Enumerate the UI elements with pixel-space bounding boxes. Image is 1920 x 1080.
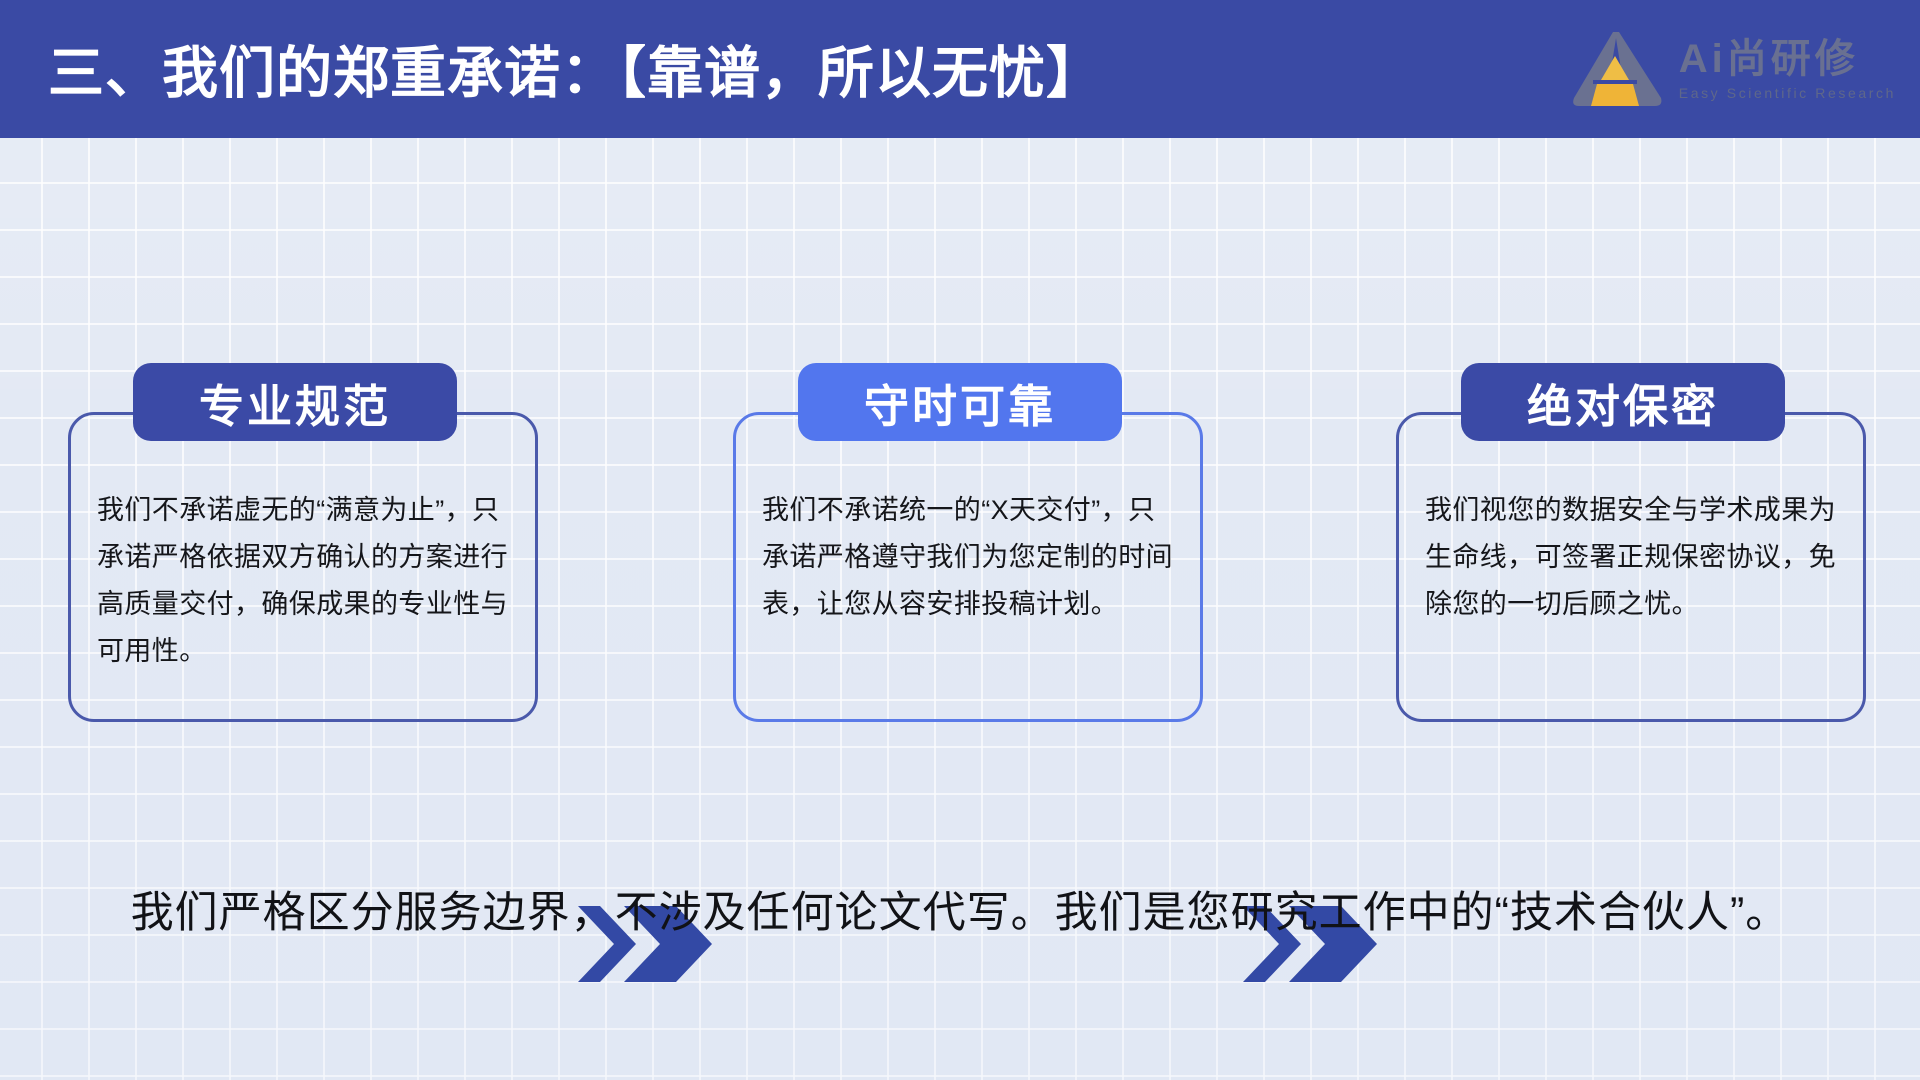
brand-logo: Ai尚研修 Easy Scientific Research <box>1569 28 1896 110</box>
promise-card-1-title: 专业规范 <box>133 363 457 441</box>
promise-card-1: 专业规范 我们不承诺虚无的“满意为止”，只承诺严格依据双方确认的方案进行高质量交… <box>68 412 538 722</box>
promise-cards-row: 专业规范 我们不承诺虚无的“满意为止”，只承诺严格依据双方确认的方案进行高质量交… <box>0 360 1920 760</box>
promise-card-2-body: 我们不承诺统一的“X天交付”，只承诺严格遵守我们为您定制的时间表，让您从容安排投… <box>762 487 1178 628</box>
slide-header-bar: 三、我们的郑重承诺：【靠谱，所以无忧】 Ai尚研修 Easy Scientifi… <box>0 0 1920 138</box>
promise-card-3-title: 绝对保密 <box>1461 363 1785 441</box>
slide-canvas: 三、我们的郑重承诺：【靠谱，所以无忧】 Ai尚研修 Easy Scientifi… <box>0 0 1920 1080</box>
logo-name: Ai尚研修 <box>1679 39 1896 79</box>
promise-card-3: 绝对保密 我们视您的数据安全与学术成果为生命线，可签署正规保密协议，免除您的一切… <box>1396 412 1866 722</box>
page-title: 三、我们的郑重承诺：【靠谱，所以无忧】 <box>48 29 1103 110</box>
promise-card-1-body: 我们不承诺虚无的“满意为止”，只承诺严格依据双方确认的方案进行高质量交付，确保成… <box>97 487 513 675</box>
mountain-tent-logo-icon <box>1569 28 1665 110</box>
promise-card-2: 守时可靠 我们不承诺统一的“X天交付”，只承诺严格遵守我们为您定制的时间表，让您… <box>733 412 1203 722</box>
footer-note: 我们严格区分服务边界，不涉及任何论文代写。我们是您研究工作中的“技术合伙人”。 <box>0 878 1920 940</box>
promise-card-2-title: 守时可靠 <box>798 363 1122 441</box>
promise-card-3-body: 我们视您的数据安全与学术成果为生命线，可签署正规保密协议，免除您的一切后顾之忧。 <box>1425 487 1841 628</box>
logo-tagline: Easy Scientific Research <box>1679 86 1896 100</box>
logo-text-block: Ai尚研修 Easy Scientific Research <box>1679 39 1896 100</box>
